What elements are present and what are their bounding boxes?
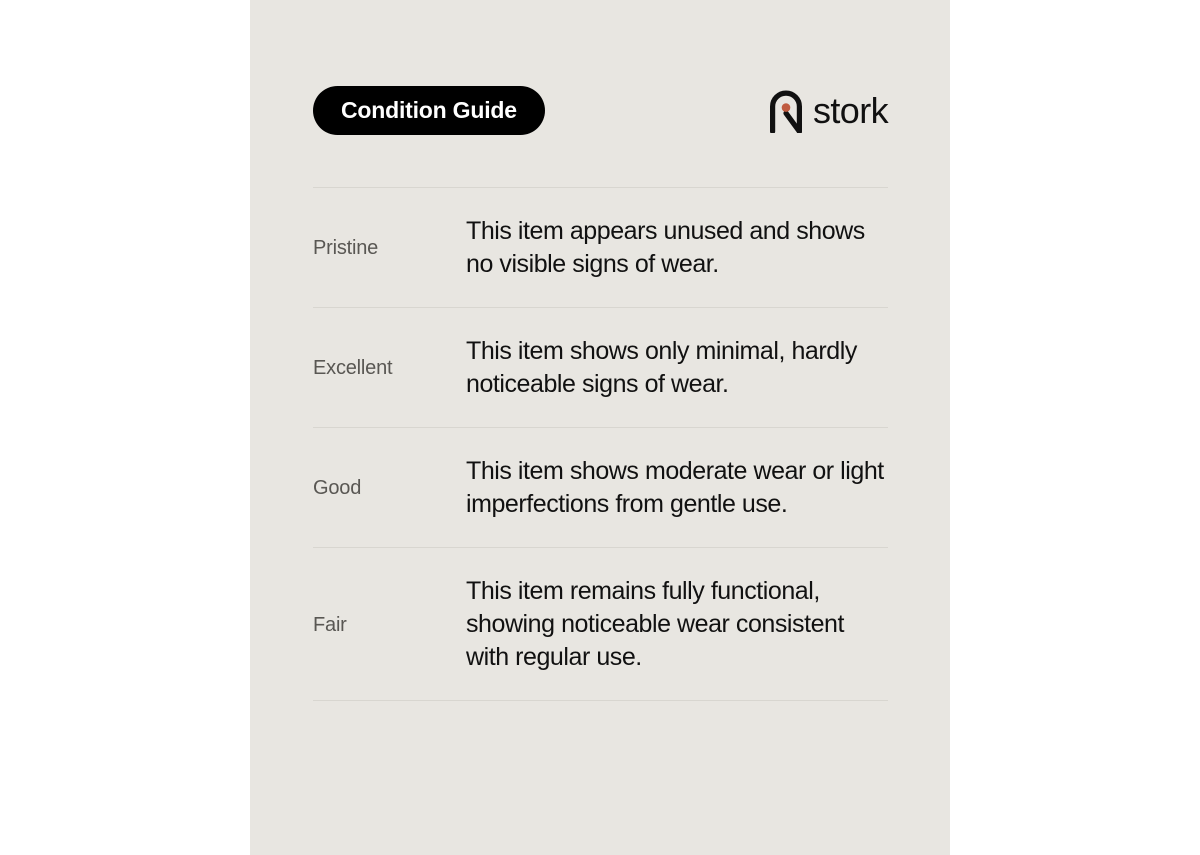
condition-description-excellent: This item shows only minimal, hardly not…: [466, 335, 888, 401]
table-row: Fair This item remains fully functional,…: [313, 548, 888, 700]
condition-guide-pill: Condition Guide: [313, 86, 545, 135]
table-row: Excellent This item shows only minimal, …: [313, 308, 888, 427]
condition-guide-card: Condition Guide stork Pristine This item…: [250, 0, 950, 855]
condition-description-good: This item shows moderate wear or light i…: [466, 455, 888, 521]
table-row: Pristine This item appears unused and sh…: [313, 188, 888, 307]
stork-arch-logo-icon: [768, 89, 804, 133]
table-row: Good This item shows moderate wear or li…: [313, 428, 888, 547]
page-root: Condition Guide stork Pristine This item…: [0, 0, 1200, 855]
condition-label-fair: Fair: [313, 613, 466, 637]
condition-label-good: Good: [313, 476, 466, 500]
table-divider-bottom: [313, 700, 888, 701]
condition-description-fair: This item remains fully functional, show…: [466, 575, 888, 674]
card-header: Condition Guide stork: [313, 86, 888, 135]
condition-guide-table: Pristine This item appears unused and sh…: [313, 187, 888, 701]
condition-label-excellent: Excellent: [313, 356, 466, 380]
brand-logo: stork: [768, 89, 888, 133]
condition-label-pristine: Pristine: [313, 236, 466, 260]
brand-wordmark: stork: [813, 93, 888, 129]
condition-description-pristine: This item appears unused and shows no vi…: [466, 215, 888, 281]
